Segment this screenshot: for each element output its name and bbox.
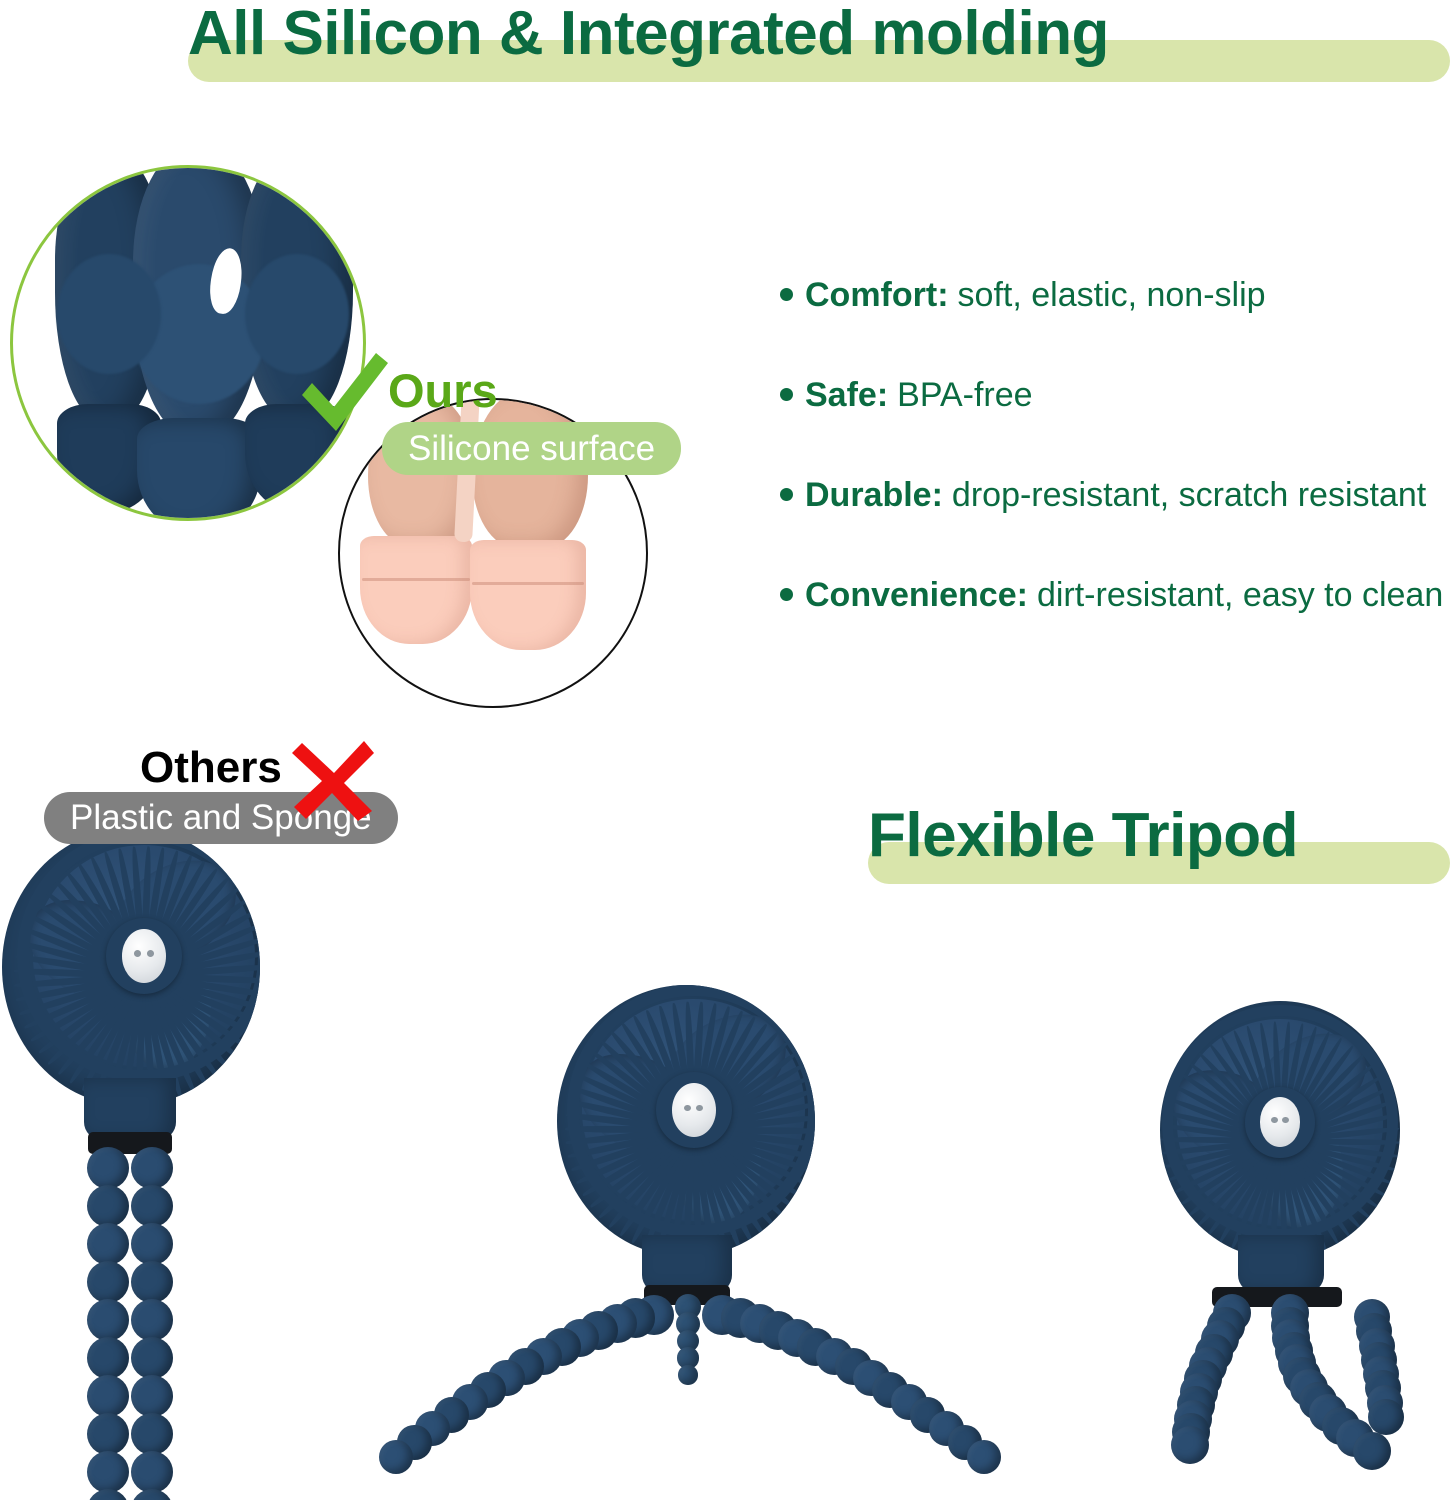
leg-bead [131,1299,173,1341]
power-button[interactable] [122,929,166,983]
leg-bead [131,1451,173,1493]
page-title-text: All Silicon & Integrated molding [188,0,1109,70]
fan-grille [1160,1001,1400,1259]
leg-bead [678,1365,698,1385]
power-button[interactable] [672,1083,716,1137]
leg-bead [87,1261,129,1303]
fan-grille [2,828,260,1106]
others-label: Others [140,743,282,793]
section-title-tripod: Flexible Tripod [868,800,1298,872]
leg-bead [131,1147,173,1189]
ours-caption-pill: Silicone surface [382,422,681,475]
ours-caption-text: Silicone surface [408,429,655,469]
list-item: Convenience: dirt-resistant, easy to cle… [780,576,1455,676]
fan-hub [106,918,182,994]
fan-neck [84,1078,176,1140]
fan-grille [557,985,815,1257]
leg-bead [967,1440,1001,1474]
feature-key: Convenience: [805,576,1028,615]
leg-bead [131,1223,173,1265]
bullet-dot-icon [780,388,793,401]
leg-bead [1368,1399,1404,1435]
list-item: Comfort: soft, elastic, non-slip [780,276,1455,376]
product-photo-fan-legs-curled [1140,995,1455,1465]
check-icon [296,351,392,441]
feature-value: dirt-resistant, easy to clean [1037,576,1443,615]
leg-bead [131,1413,173,1455]
list-item: Durable: drop-resistant, scratch resista… [780,476,1455,576]
leg-bead [131,1489,173,1500]
feature-value: drop-resistant, scratch resistant [952,476,1426,515]
cross-icon [292,741,376,821]
section-title-tripod-text: Flexible Tripod [868,800,1298,872]
leg-bead [87,1185,129,1227]
fan-head [2,828,260,1106]
leg-bead [87,1375,129,1417]
leg-bead [87,1413,129,1455]
leg-bead [87,1489,129,1500]
bullet-dot-icon [780,288,793,301]
product-photo-fan-legs-straight [0,820,280,1480]
fan-head [1160,1001,1400,1259]
leg-bead [131,1375,173,1417]
page-title: All Silicon & Integrated molding [188,0,1109,70]
fan-hub [1245,1087,1316,1158]
feature-value: BPA-free [897,376,1032,415]
leg-bead [87,1299,129,1341]
feature-list: Comfort: soft, elastic, non-slip Safe: B… [780,276,1455,676]
feature-value: soft, elastic, non-slip [958,276,1266,315]
list-item: Safe: BPA-free [780,376,1455,476]
leg-bead [87,1147,129,1189]
comparison-section: Ours Silicone surface Others Plastic and… [0,155,740,735]
feature-key: Safe: [805,376,888,415]
leg-bead [379,1440,413,1474]
bullet-dot-icon [780,488,793,501]
product-feature-infographic: All Silicon & Integrated molding [0,0,1455,1500]
feature-key: Durable: [805,476,943,515]
ours-product-photo [10,165,366,521]
leg-bead [1353,1432,1391,1470]
leg-bead [131,1337,173,1379]
fan-head [557,985,815,1257]
feature-key: Comfort: [805,276,949,315]
power-button[interactable] [1260,1097,1301,1147]
ours-label: Ours [388,363,498,418]
leg-bead [131,1261,173,1303]
leg-bead [131,1185,173,1227]
fan-hub [656,1072,732,1148]
leg-bead [87,1223,129,1265]
leg-bead [1171,1426,1209,1464]
bullet-dot-icon [780,588,793,601]
leg-bead [87,1337,129,1379]
leg-bead [87,1451,129,1493]
fan-neck [1238,1235,1324,1293]
product-photo-fan-legs-spread [392,985,1012,1485]
